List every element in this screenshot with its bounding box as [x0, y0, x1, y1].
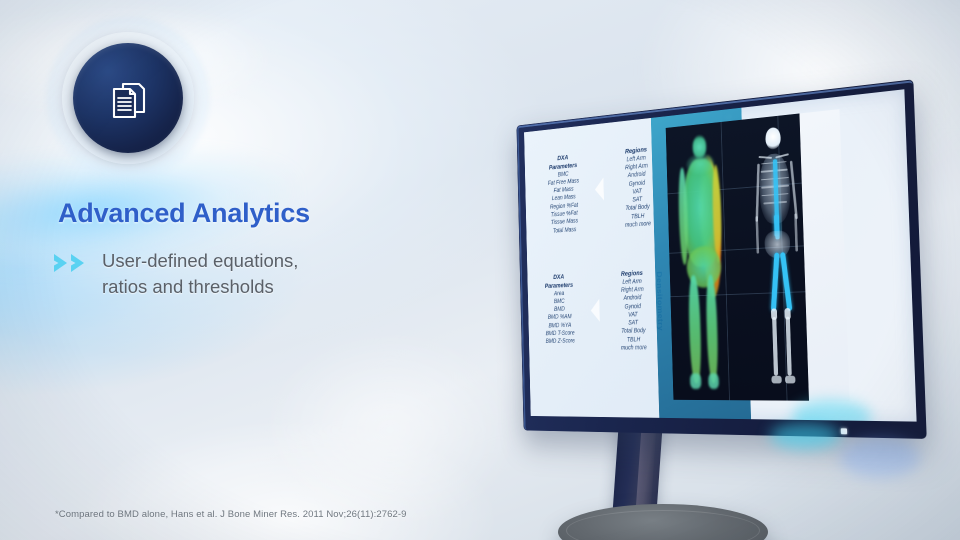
feature-badge: [62, 32, 194, 164]
bullet-row: User-defined equations, ratios and thres…: [52, 248, 382, 301]
scan-right-margin: [799, 109, 849, 401]
monitor-screen: DXA Parameters BMC Fat Free Mass Fat Mas…: [524, 89, 917, 421]
bullet-text: User-defined equations, ratios and thres…: [102, 248, 298, 301]
monitor-bezel: DXA Parameters BMC Fat Free Mass Fat Mas…: [516, 79, 926, 439]
page-title: Advanced Analytics: [58, 198, 310, 229]
slide-canvas: Advanced Analytics User-defined equation…: [0, 0, 960, 540]
arrow-left-densitometry: [591, 299, 600, 322]
arrow-left-composition: [595, 178, 604, 201]
screen-glow-reflection: [792, 400, 873, 422]
densitometry-parameters-column: DXA Parameters Area BMC BMD BMD %AM BMD …: [529, 271, 591, 353]
list-item: much more: [603, 344, 666, 353]
badge-core: [73, 43, 183, 153]
footnote-citation: *Compared to BMD alone, Hans et al. J Bo…: [55, 509, 407, 520]
documents-icon: [104, 74, 152, 122]
monitor-stand-base: [558, 504, 768, 540]
body-composition-heatmap: [673, 129, 745, 392]
desktop-monitor: DXA Parameters BMC Fat Free Mass Fat Mas…: [420, 78, 960, 540]
scan-images: [666, 109, 850, 401]
desk-glow-blue: [840, 438, 920, 478]
bullet-line-2: ratios and thresholds: [102, 276, 274, 297]
power-led-indicator: [841, 428, 847, 434]
double-chevron-right-icon: [52, 252, 92, 279]
bullet-line-1: User-defined equations,: [102, 250, 298, 271]
list-item: BMD Z-Score: [530, 337, 591, 346]
composition-parameters-column: DXA Parameters BMC Fat Free Mass Fat Mas…: [533, 151, 595, 237]
